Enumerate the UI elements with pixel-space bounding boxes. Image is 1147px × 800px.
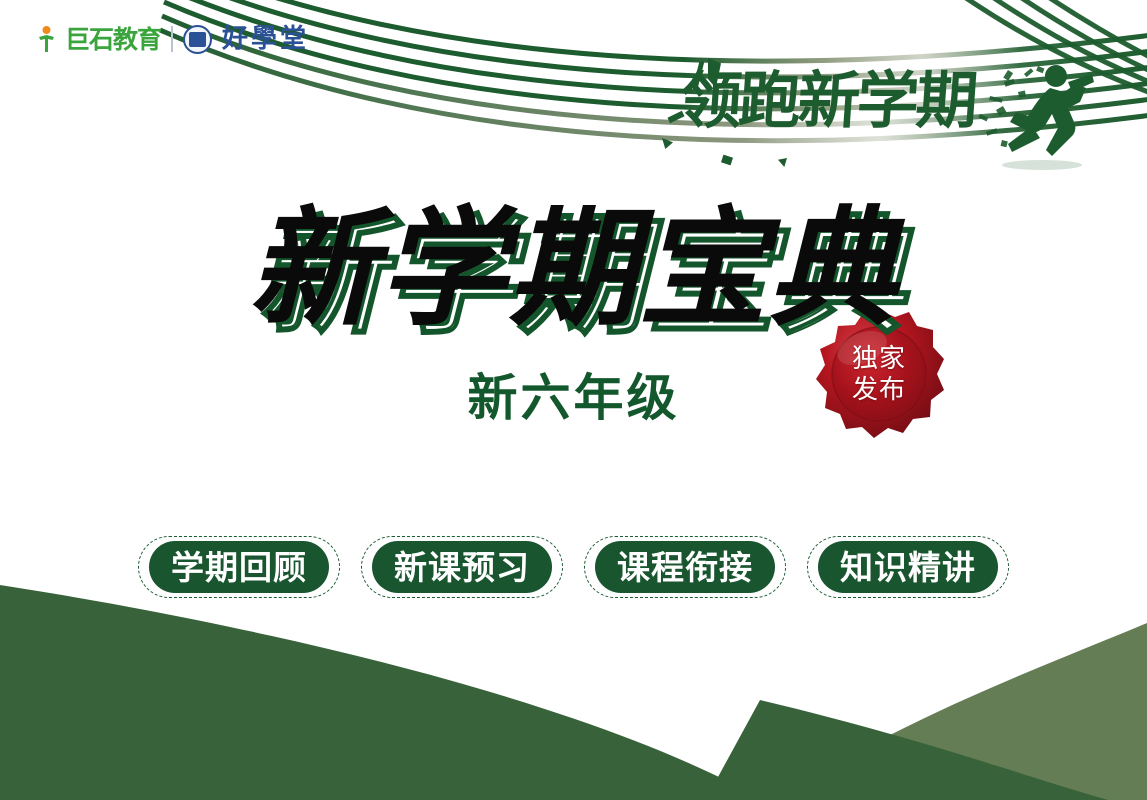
running-athlete-icon <box>946 52 1096 172</box>
brand-logo: 巨石教育 好學堂 <box>38 22 309 56</box>
grade-subtitle: 新六年级 <box>468 369 680 427</box>
banner-headline-group: 领跑新学期 <box>660 60 1090 170</box>
shard-decor <box>721 155 733 166</box>
subtitle-block: 新六年级 <box>0 358 1147 430</box>
main-title-block: 新学期宝典 新学期宝典 <box>0 198 1147 358</box>
academy-seal-icon <box>183 25 212 54</box>
shard-decor <box>778 158 787 167</box>
brand-secondary-name: 好學堂 <box>222 26 309 52</box>
banner-headline: 领跑新学期 <box>678 70 977 132</box>
shard-decor <box>662 138 673 149</box>
poster-canvas: 巨石教育 好學堂 领跑新学期 <box>0 0 1147 800</box>
brand-primary-name: 巨石教育 <box>65 27 161 52</box>
seal-line-2: 发布 <box>852 375 906 406</box>
person-icon <box>38 26 55 52</box>
main-title: 新学期宝典 <box>248 195 898 344</box>
hill-front <box>0 585 780 800</box>
hills-decoration <box>0 560 1147 800</box>
brand-divider <box>171 26 173 52</box>
